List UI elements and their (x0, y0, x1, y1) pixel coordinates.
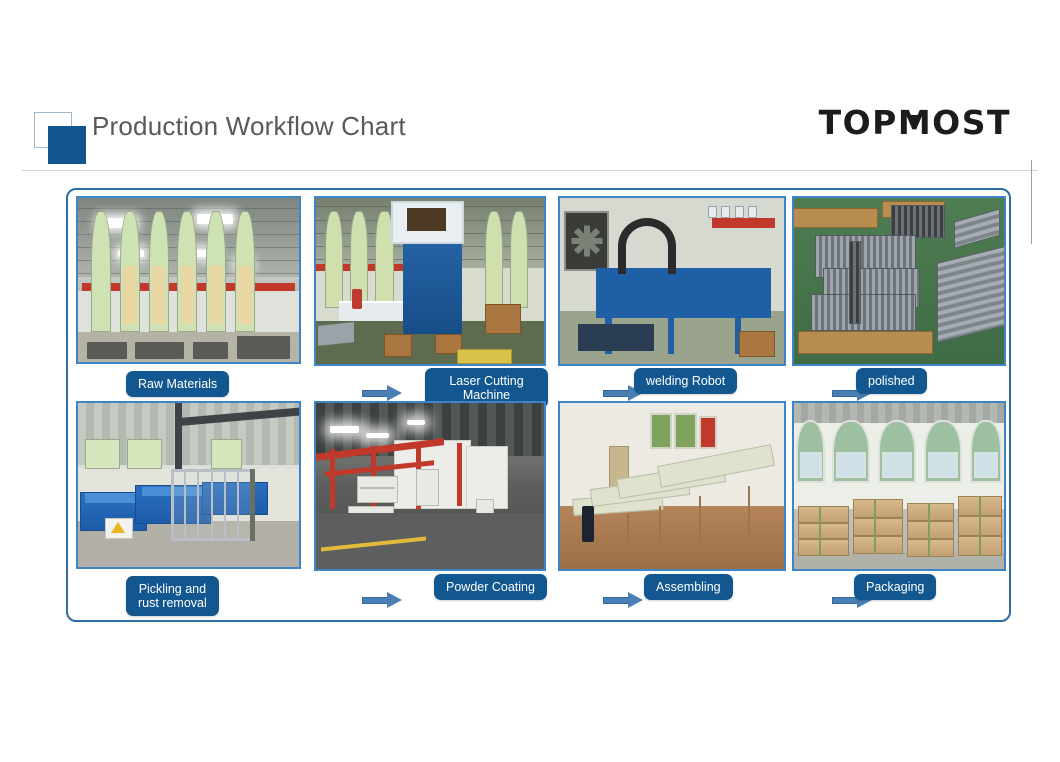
brand-vertical-divider (1031, 160, 1032, 244)
workflow-step-assembling[interactable]: Assembling (558, 401, 790, 607)
workflow-step-polished[interactable]: polished (792, 196, 1007, 402)
brand-triangle-icon (908, 115, 922, 126)
brand-m-letter: M (898, 106, 932, 139)
photo-raw-materials (76, 196, 301, 364)
step-label-pickling: Pickling and rust removal (126, 576, 219, 616)
step-label-packaging: Packaging (854, 574, 936, 600)
slide-root: Production Workflow Chart TOPMOST (0, 0, 1060, 762)
step-label-assembling: Assembling (644, 574, 733, 600)
workflow-step-welding-robot[interactable]: welding Robot (558, 196, 790, 402)
header-divider (22, 170, 1038, 171)
photo-polished-parts (792, 196, 1006, 366)
workflow-step-powder-coating[interactable]: Powder Coating (314, 401, 548, 607)
photo-laser-cutting-machine (314, 196, 546, 366)
workflow-step-packaging[interactable]: Packaging (792, 401, 1007, 607)
photo-packaging (792, 401, 1006, 571)
page-title: Production Workflow Chart (92, 111, 406, 142)
logo-solid-square (48, 126, 86, 164)
photo-pickling-tanks (76, 401, 301, 569)
photo-welding-robot (558, 196, 786, 366)
photo-powder-coating (314, 401, 546, 571)
double-square-logo-icon (34, 112, 90, 164)
step-label-polished: polished (856, 368, 927, 394)
step-label-welding-robot: welding Robot (634, 368, 737, 394)
brand-text-after: OST (932, 103, 1011, 142)
workflow-row-1: Raw Materials (68, 196, 1013, 402)
workflow-row-2: Pickling and rust removal (68, 401, 1013, 607)
step-label-powder-coating: Powder Coating (434, 574, 547, 600)
brand-wordmark: TOPMOST (819, 106, 1011, 139)
workflow-step-pickling[interactable]: Pickling and rust removal (76, 401, 304, 607)
photo-assembling (558, 401, 786, 571)
brand-logo: TOPMOST (819, 102, 1011, 142)
workflow-container: Raw Materials (66, 188, 1011, 622)
workflow-step-laser-cutting[interactable]: Laser Cutting Machine (314, 196, 548, 402)
brand-text-before: TOP (819, 103, 898, 142)
step-label-raw-materials: Raw Materials (126, 371, 229, 397)
workflow-step-raw-materials[interactable]: Raw Materials (76, 196, 304, 402)
